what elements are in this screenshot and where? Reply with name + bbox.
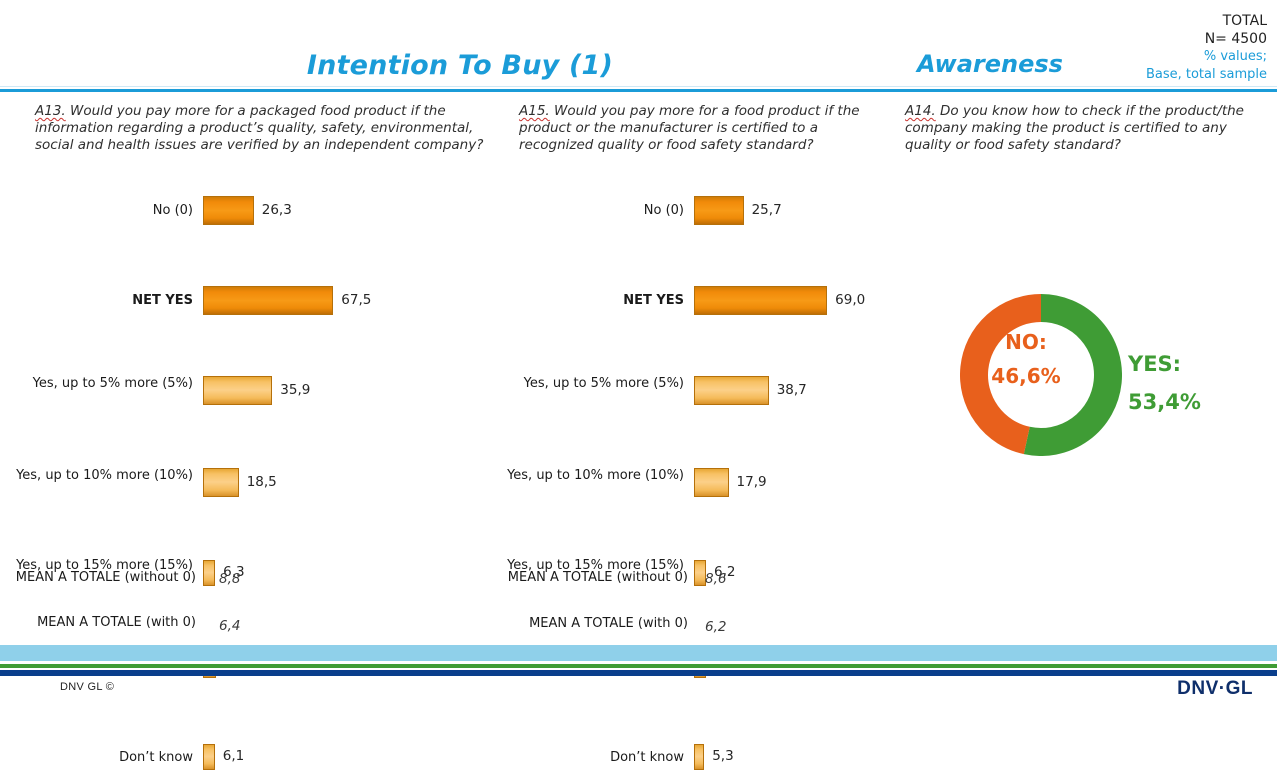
chart-bar-value: 69,0 — [835, 292, 865, 308]
chart-bar — [694, 744, 704, 770]
question-text-a15: Would you pay more for a food product if… — [519, 103, 860, 153]
base-note: Base, total sample — [1045, 66, 1267, 84]
donut-yes-label-group: YES: 53,4% — [1128, 345, 1268, 421]
donut-yes-label: YES: — [1128, 345, 1268, 383]
mean-label: MEAN A TOTALE (with 0) — [428, 616, 688, 631]
question-code-a13: A13. — [35, 103, 66, 119]
mean-value: 8,8 — [219, 571, 240, 587]
question-text-a14: Do you know how to check if the product/… — [905, 103, 1244, 153]
mean-label: MEAN A TOTALE (with 0) — [0, 615, 196, 630]
chart-bar-value: 25,7 — [752, 202, 782, 218]
question-a15: A15. Would you pay more for a food produ… — [519, 103, 889, 154]
donut-no-value: 46,6% — [960, 359, 1092, 393]
chart-row-label: Yes, up to 5% more (5%) — [0, 376, 193, 391]
chart-row-label: NET YES — [454, 293, 684, 308]
chart-row-label: Yes, up to 10% more (10%) — [454, 468, 684, 483]
question-a13: A13. Would you pay more for a packaged f… — [35, 103, 490, 154]
chart-bar-value: 26,3 — [262, 202, 292, 218]
total-sample-block: TOTAL N= 4500 % values; Base, total samp… — [1045, 12, 1267, 84]
chart-bar — [203, 744, 215, 770]
mean-value: 6,2 — [705, 619, 726, 635]
bar-chart-a13: No (0)26,3NET YES67,5Yes, up to 5% more … — [0, 196, 470, 506]
chart-bar — [203, 286, 333, 315]
donut-yes-value: 53,4% — [1128, 383, 1268, 421]
footer-band-blue — [0, 670, 1277, 676]
question-code-a14: A14. — [905, 103, 936, 119]
copyright-text: DNV GL © — [60, 681, 114, 693]
chart-bar — [694, 376, 769, 405]
mean-value: 6,4 — [219, 618, 240, 634]
bar-chart-a15: No (0)25,7NET YES69,0Yes, up to 5% more … — [491, 196, 961, 506]
chart-bar — [203, 196, 254, 225]
chart-row-label: Yes, up to 10% more (10%) — [0, 468, 193, 483]
chart-bar-value: 6,1 — [223, 748, 244, 764]
mean-label: MEAN A TOTALE (without 0) — [428, 570, 688, 585]
chart-row-label: No (0) — [0, 203, 193, 218]
total-label: TOTAL — [1045, 12, 1267, 30]
chart-bar — [203, 468, 239, 497]
chart-row-label: Don’t know — [0, 750, 193, 765]
donut-no-label-group: NO: 46,6% — [960, 325, 1092, 393]
chart-row-label: NET YES — [0, 293, 193, 308]
question-text-a13: Would you pay more for a packaged food p… — [35, 103, 483, 153]
chart-bar-value: 35,9 — [280, 382, 310, 398]
chart-bar-value: 38,7 — [777, 382, 807, 398]
sample-size-label: N= 4500 — [1045, 30, 1267, 48]
mean-label: MEAN A TOTALE (without 0) — [0, 570, 196, 585]
chart-row-label: Yes, up to 5% more (5%) — [454, 376, 684, 391]
chart-bar-value: 17,9 — [737, 474, 767, 490]
chart-row-label: No (0) — [454, 203, 684, 218]
question-code-a15: A15. — [519, 103, 550, 119]
mean-value: 8,6 — [705, 571, 726, 587]
brand-logo: DNV·GL — [1177, 678, 1253, 700]
chart-bar — [694, 286, 827, 315]
chart-row-label: Don’t know — [454, 750, 684, 765]
question-a14: A14. Do you know how to check if the pro… — [905, 103, 1265, 154]
chart-bar — [694, 196, 744, 225]
page-title: Intention To Buy (1) — [0, 50, 920, 81]
footer-band-light-blue — [0, 645, 1277, 661]
chart-bar-value: 5,3 — [712, 748, 733, 764]
chart-bar-value: 67,5 — [341, 292, 371, 308]
donut-no-label: NO: — [960, 325, 1092, 359]
header-divider — [0, 89, 1277, 92]
header-divider-soft — [0, 86, 1277, 87]
values-note: % values; — [1045, 48, 1267, 66]
chart-bar — [203, 560, 215, 586]
chart-bar — [694, 468, 729, 497]
chart-bar-value: 18,5 — [247, 474, 277, 490]
chart-bar — [203, 376, 272, 405]
